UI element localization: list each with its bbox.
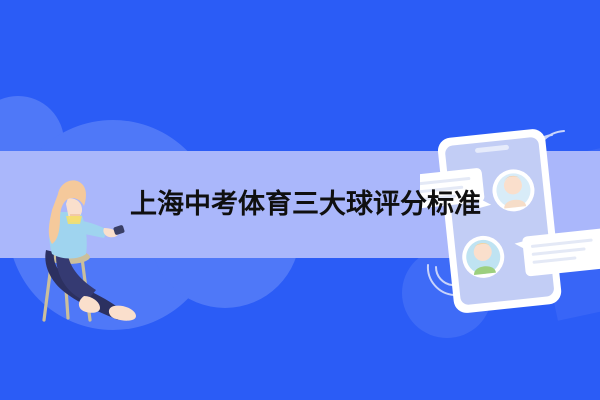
page-title: 上海中考体育三大球评分标准: [130, 187, 481, 221]
signal-arc-bottom: [428, 265, 454, 295]
woman-sitting-illustration: [38, 160, 168, 325]
collar: [66, 216, 82, 224]
banner-image: 上海中考体育三大球评分标准: [0, 0, 600, 400]
smartphone: [437, 128, 563, 314]
shoe-front: [109, 306, 136, 321]
